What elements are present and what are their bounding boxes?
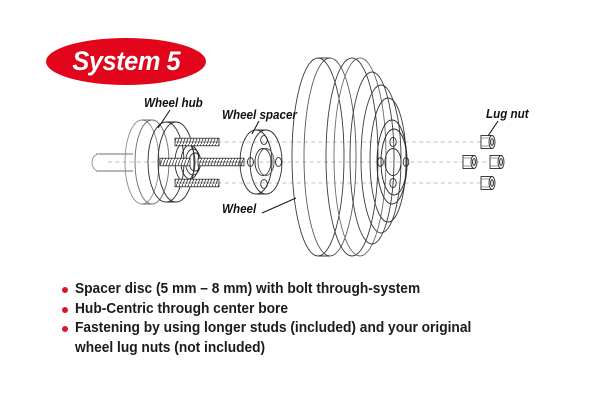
bullet-dot xyxy=(62,326,68,332)
lug-nut xyxy=(490,156,504,169)
callout-label-wheel-spacer: Wheel spacer xyxy=(222,108,297,122)
list-item: Hub-Centric through center bore xyxy=(62,300,562,319)
bullet-dot xyxy=(62,287,68,293)
list-item: Spacer disc (5 mm – 8 mm) with bolt thro… xyxy=(62,280,562,299)
feature-text: Hub-Centric through center bore xyxy=(75,300,288,319)
feature-text-second-line: wheel lug nuts (not included) xyxy=(75,339,265,358)
diagram-page: System 5 Wheel hub Wheel spacer Wheel Lu… xyxy=(0,0,600,400)
callout-label-wheel-hub: Wheel hub xyxy=(144,96,203,110)
list-item: Fastening by using longer studs (include… xyxy=(62,319,562,338)
feature-text: Spacer disc (5 mm – 8 mm) with bolt thro… xyxy=(75,280,420,299)
list-item-continuation: wheel lug nuts (not included) xyxy=(62,339,562,358)
callout-label-lug-nut: Lug nut xyxy=(486,107,529,121)
lug-nut xyxy=(481,136,495,149)
bullet-dot xyxy=(62,307,68,313)
wheel-rim xyxy=(292,58,409,256)
lug-nut-set xyxy=(463,136,504,190)
system-badge-label: System 5 xyxy=(72,46,180,77)
hub-studs xyxy=(160,138,244,187)
lug-nut xyxy=(463,156,477,169)
axle-shaft xyxy=(92,154,133,171)
system-badge: System 5 xyxy=(46,38,206,85)
feature-text: Fastening by using longer studs (include… xyxy=(75,319,471,338)
feature-list: Spacer disc (5 mm – 8 mm) with bolt thro… xyxy=(62,280,562,358)
lug-nut xyxy=(481,177,495,190)
callout-label-wheel: Wheel xyxy=(222,202,256,216)
